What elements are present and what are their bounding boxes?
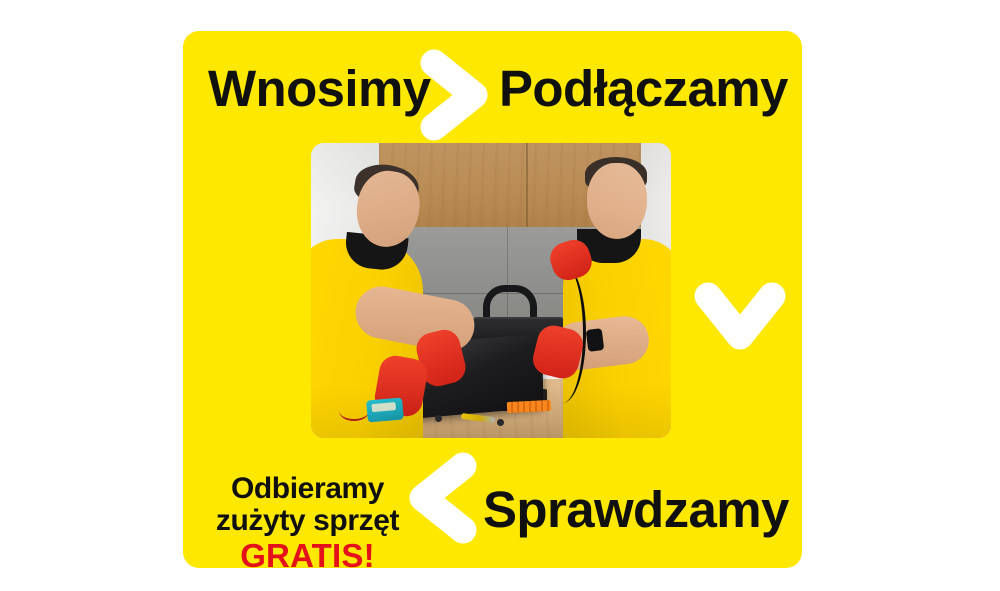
technician-right-head xyxy=(587,163,647,239)
headline-sprawdzamy: Sprawdzamy xyxy=(483,484,789,535)
promo-canvas: Wnosimy Podłączamy xyxy=(0,0,1000,591)
headline-podlaczamy: Podłączamy xyxy=(499,63,788,114)
headline-wnosimy: Wnosimy xyxy=(208,63,431,114)
photo-scene xyxy=(311,143,671,438)
loose-screw xyxy=(435,415,442,422)
chevron-down-icon xyxy=(688,274,792,360)
orange-terminal-block xyxy=(507,400,552,413)
technicians-photo xyxy=(311,143,671,438)
blue-multimeter xyxy=(366,397,404,422)
cabinet-seam xyxy=(526,143,528,227)
pickup-text-block: Odbieramy zużyty sprzęt GRATIS! xyxy=(205,473,410,573)
promo-card: Wnosimy Podłączamy xyxy=(183,31,802,568)
pickup-line-1: Odbieramy xyxy=(205,473,410,505)
chevron-left-icon xyxy=(401,446,487,550)
loose-screw xyxy=(497,419,504,426)
pickup-free-label: GRATIS! xyxy=(205,538,410,574)
chevron-right-icon xyxy=(412,43,498,147)
wrist-watch xyxy=(586,328,605,352)
multimeter-probe-wire xyxy=(339,401,369,421)
pickup-line-2: zużyty sprzęt xyxy=(205,505,410,537)
